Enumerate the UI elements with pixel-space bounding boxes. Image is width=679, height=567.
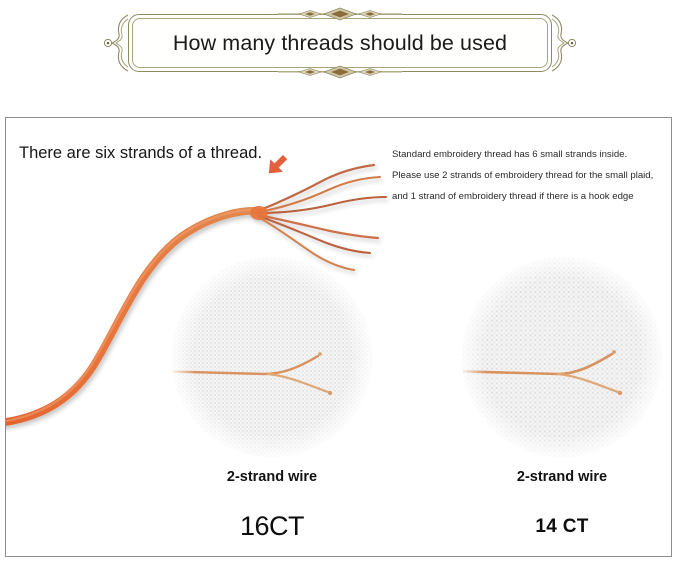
left-scroll-ornament-icon bbox=[103, 14, 129, 72]
decorative-frame: How many threads should be used bbox=[128, 14, 552, 72]
swatch-caption-14ct: 2-strand wire bbox=[462, 469, 662, 485]
headline-text: There are six strands of a thread. bbox=[19, 144, 262, 163]
instruction-blurb: Standard embroidery thread has 6 small s… bbox=[392, 144, 667, 207]
count-label-14ct: 14 CT bbox=[462, 516, 662, 538]
swatch-caption-16ct: 2-strand wire bbox=[172, 469, 372, 485]
blurb-line-1: Standard embroidery thread has 6 small s… bbox=[392, 144, 667, 165]
count-label-16ct: 16CT bbox=[172, 511, 372, 542]
page-title: How many threads should be used bbox=[128, 29, 552, 57]
title-banner: How many threads should be used bbox=[0, 0, 679, 95]
blurb-line-3: and 1 strand of embroidery thread if the… bbox=[392, 186, 667, 207]
bottom-diamond-ornament-icon bbox=[278, 64, 402, 80]
right-scroll-ornament-icon bbox=[551, 14, 577, 72]
top-diamond-ornament-icon bbox=[278, 6, 402, 22]
blurb-line-2: Please use 2 strands of embroidery threa… bbox=[392, 165, 667, 186]
instruction-photo-panel: There are six strands of a thread. Stand… bbox=[5, 117, 672, 557]
